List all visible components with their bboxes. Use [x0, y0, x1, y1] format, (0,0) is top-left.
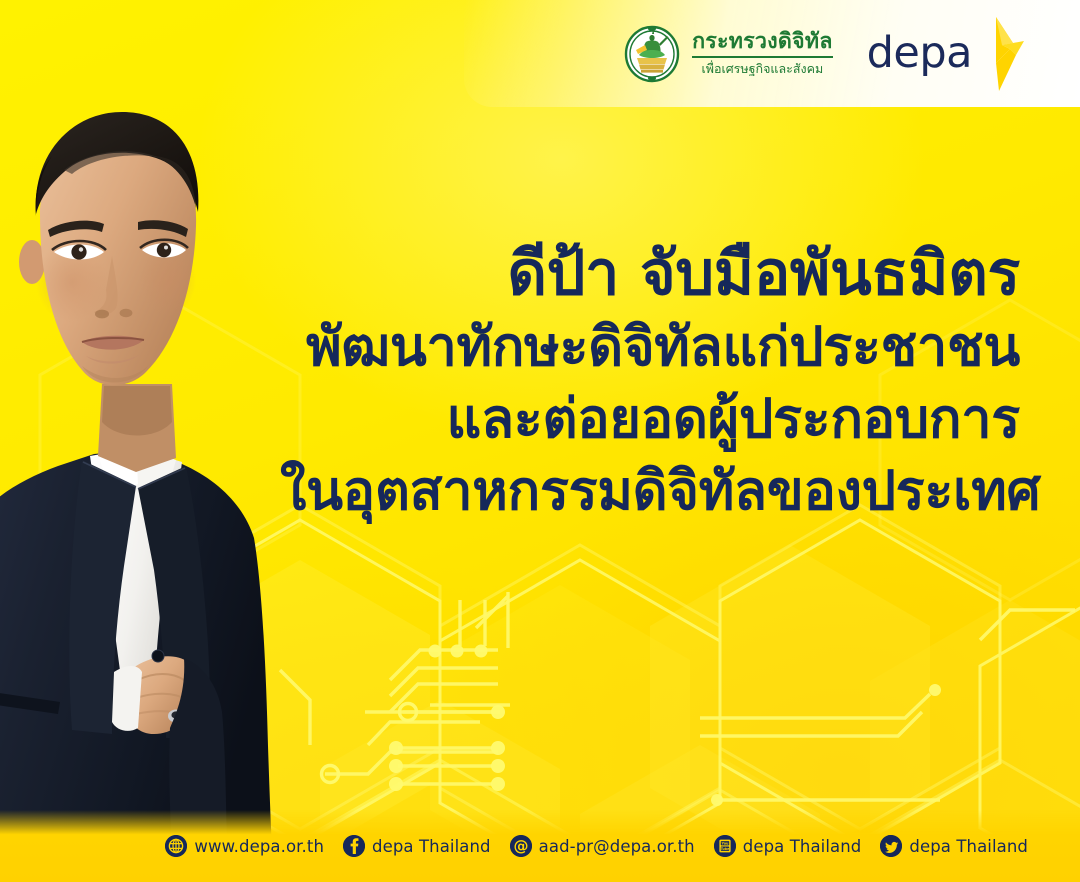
svg-text:You: You — [720, 842, 728, 846]
contact-youtube[interactable]: You Tube depa Thailand — [714, 835, 862, 857]
ministry-logo: กระทรวงดิจิทัล เพื่อเศรษฐกิจและสังคม — [623, 25, 833, 83]
facebook-icon — [343, 835, 365, 857]
header-logos: กระทรวงดิจิทัล เพื่อเศรษฐกิจและสังคม dep… — [464, 0, 1080, 107]
headline-line-4: ในอุตสาหกรรมดิจิทัลของประเทศ — [280, 455, 1020, 527]
svg-text:@: @ — [513, 837, 528, 855]
contact-facebook[interactable]: depa Thailand — [343, 835, 491, 857]
thai-ministry-seal-icon — [623, 25, 681, 83]
poster-canvas: กระทรวงดิจิทัล เพื่อเศรษฐกิจและสังคม dep… — [0, 0, 1080, 882]
contact-facebook-label: depa Thailand — [372, 837, 491, 856]
ministry-text: กระทรวงดิจิทัล เพื่อเศรษฐกิจและสังคม — [692, 30, 833, 76]
at-email-icon: @ — [510, 835, 532, 857]
twitter-icon — [880, 835, 902, 857]
headline-line-1: ดีป้า จับมือพันธมิตร — [280, 236, 1020, 311]
contact-email[interactable]: @ aad-pr@depa.or.th — [510, 835, 695, 857]
contact-twitter[interactable]: depa Thailand — [880, 835, 1028, 857]
depa-logo: depa — [867, 15, 1026, 93]
depa-wordmark: depa — [867, 33, 972, 74]
headline-block: ดีป้า จับมือพันธมิตร พัฒนาทักษะดิจิทัลแก… — [280, 236, 1050, 526]
footer-contact-bar: www.depa.or.th depa Thailand @ aad-pr@de… — [0, 810, 1080, 882]
globe-icon — [165, 835, 187, 857]
depa-arrow-bird-icon — [966, 15, 1024, 93]
contact-twitter-label: depa Thailand — [909, 837, 1028, 856]
headline-line-3: และต่อยอดผู้ประกอบการ — [280, 383, 1020, 455]
svg-text:Tube: Tube — [720, 847, 729, 851]
ministry-title: กระทรวงดิจิทัล — [692, 30, 833, 58]
ministry-subtitle: เพื่อเศรษฐกิจและสังคม — [701, 61, 823, 77]
contact-website-label: www.depa.or.th — [194, 837, 324, 856]
contact-email-label: aad-pr@depa.or.th — [539, 837, 695, 856]
youtube-icon: You Tube — [714, 835, 736, 857]
contact-youtube-label: depa Thailand — [743, 837, 862, 856]
man-in-dark-suit-portrait — [0, 66, 316, 882]
headline-line-2: พัฒนาทักษะดิจิทัลแก่ประชาชน — [280, 311, 1020, 383]
contact-website[interactable]: www.depa.or.th — [165, 835, 324, 857]
